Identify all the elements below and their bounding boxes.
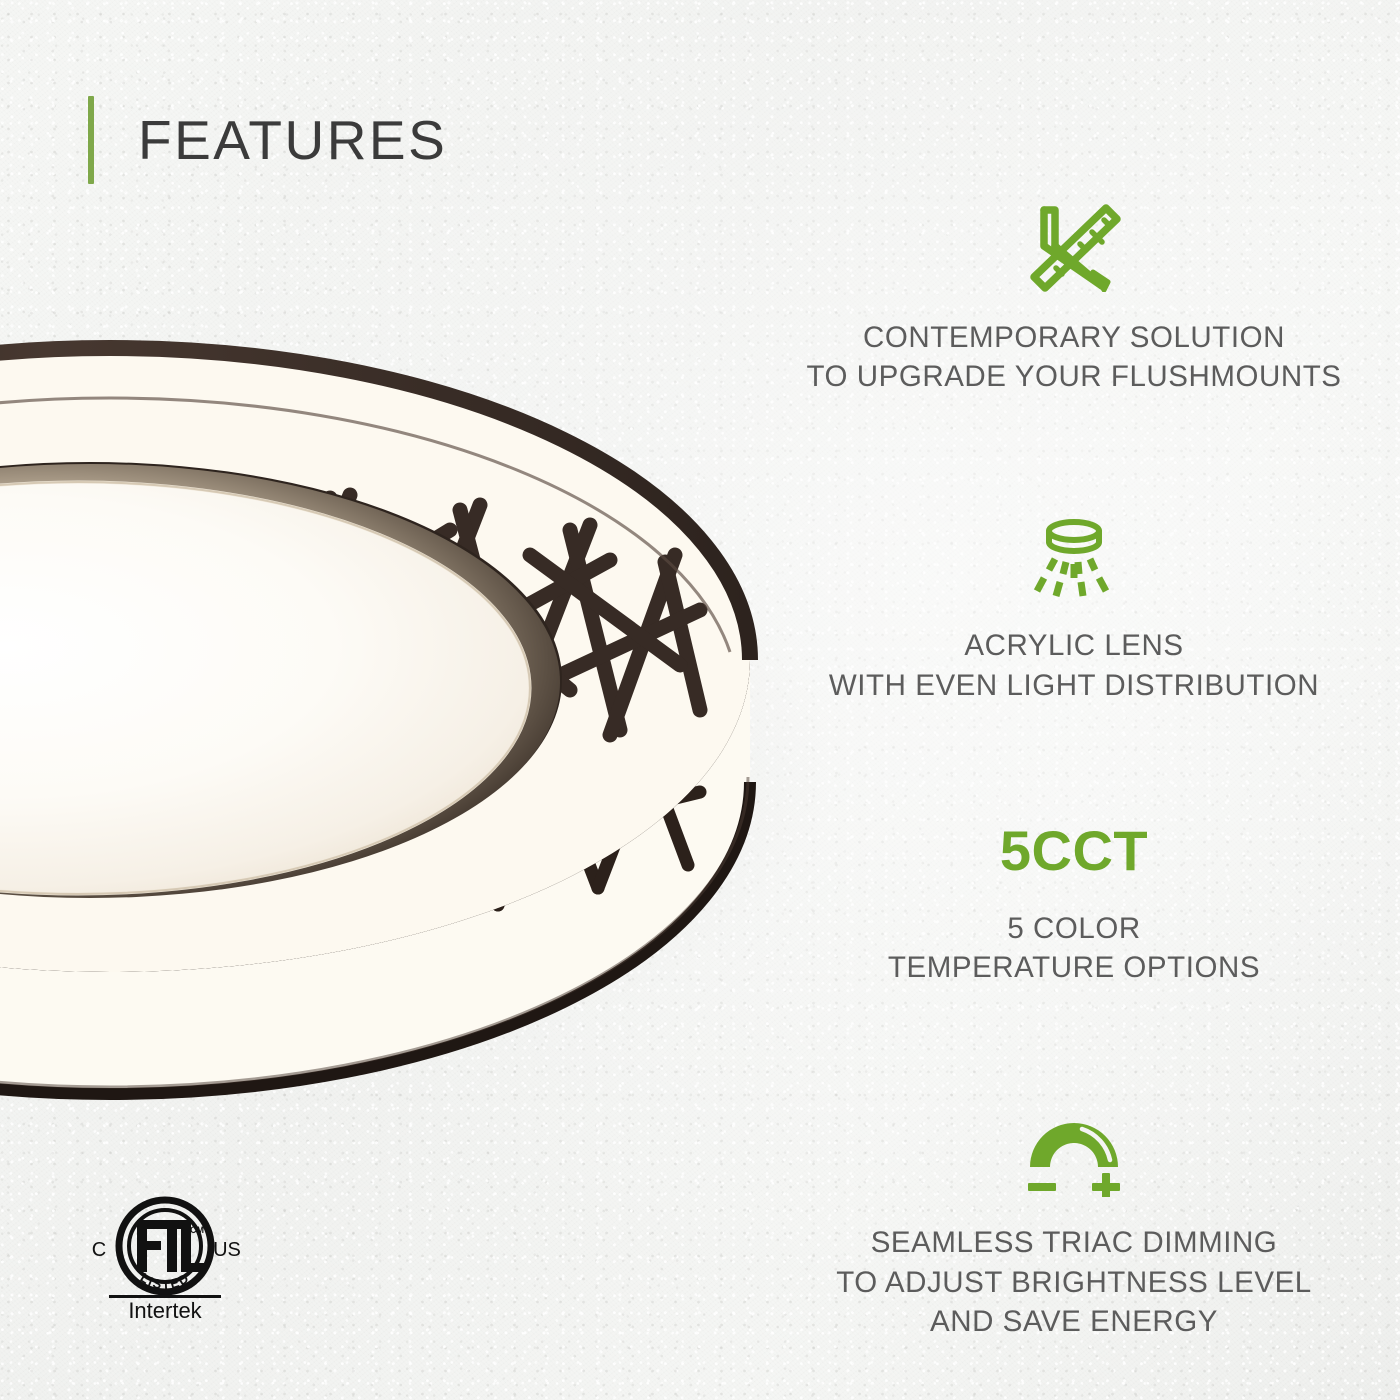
feature-acrylic-lens: ACRYLIC LENS WITH EVEN LIGHT DISTRIBUTIO… — [760, 518, 1388, 704]
etl-company-label: Intertek — [128, 1298, 202, 1322]
feature-triac-dimming-text: SEAMLESS TRIAC DIMMING TO ADJUST BRIGHTN… — [760, 1223, 1388, 1341]
feature-text-line: WITH EVEN LIGHT DISTRIBUTION — [760, 666, 1388, 705]
ruler-pen-icon — [760, 200, 1388, 292]
feature-contemporary-solution-text: CONTEMPORARY SOLUTION TO UPGRADE YOUR FL… — [760, 318, 1388, 396]
spacer — [760, 705, 1388, 823]
feature-text-line: TO ADJUST BRIGHTNESS LEVEL — [760, 1263, 1388, 1302]
feature-text-line: CONTEMPORARY SOLUTION — [760, 318, 1388, 357]
dimmer-arc-icon — [760, 1115, 1388, 1197]
spacer — [760, 396, 1388, 518]
features-list: CONTEMPORARY SOLUTION TO UPGRADE YOUR FL… — [760, 200, 1388, 1341]
feature-text-line: TEMPERATURE OPTIONS — [760, 948, 1388, 987]
etl-right-label: US — [213, 1239, 241, 1261]
feature-text-line: 5 COLOR — [760, 909, 1388, 948]
etl-trademark-label: CM — [190, 1225, 204, 1235]
header-accent-bar — [88, 96, 94, 184]
spacer — [760, 987, 1388, 1115]
feature-infographic-page: FEATURES — [0, 0, 1400, 1400]
feature-contemporary-solution: CONTEMPORARY SOLUTION TO UPGRADE YOUR FL… — [760, 200, 1388, 396]
etl-listed-certification-mark: CM C US LISTED Intertek — [85, 1196, 245, 1322]
feature-triac-dimming: SEAMLESS TRIAC DIMMING TO ADJUST BRIGHTN… — [760, 1115, 1388, 1341]
feature-five-cct: 5CCT 5 COLOR TEMPERATURE OPTIONS — [760, 823, 1388, 987]
ceiling-light-rays-icon — [760, 518, 1388, 600]
etl-left-label: C — [92, 1239, 106, 1261]
feature-text-line: SEAMLESS TRIAC DIMMING — [760, 1223, 1388, 1262]
feature-five-cct-text: 5 COLOR TEMPERATURE OPTIONS — [760, 909, 1388, 987]
feature-text-line: TO UPGRADE YOUR FLUSHMOUNTS — [760, 357, 1388, 396]
feature-acrylic-lens-text: ACRYLIC LENS WITH EVEN LIGHT DISTRIBUTIO… — [760, 626, 1388, 704]
cct-headline: 5CCT — [760, 823, 1388, 879]
page-header: FEATURES — [88, 96, 447, 184]
page-title: FEATURES — [138, 113, 447, 168]
feature-text-line: ACRYLIC LENS — [760, 626, 1388, 665]
feature-text-line: AND SAVE ENERGY — [760, 1302, 1388, 1341]
